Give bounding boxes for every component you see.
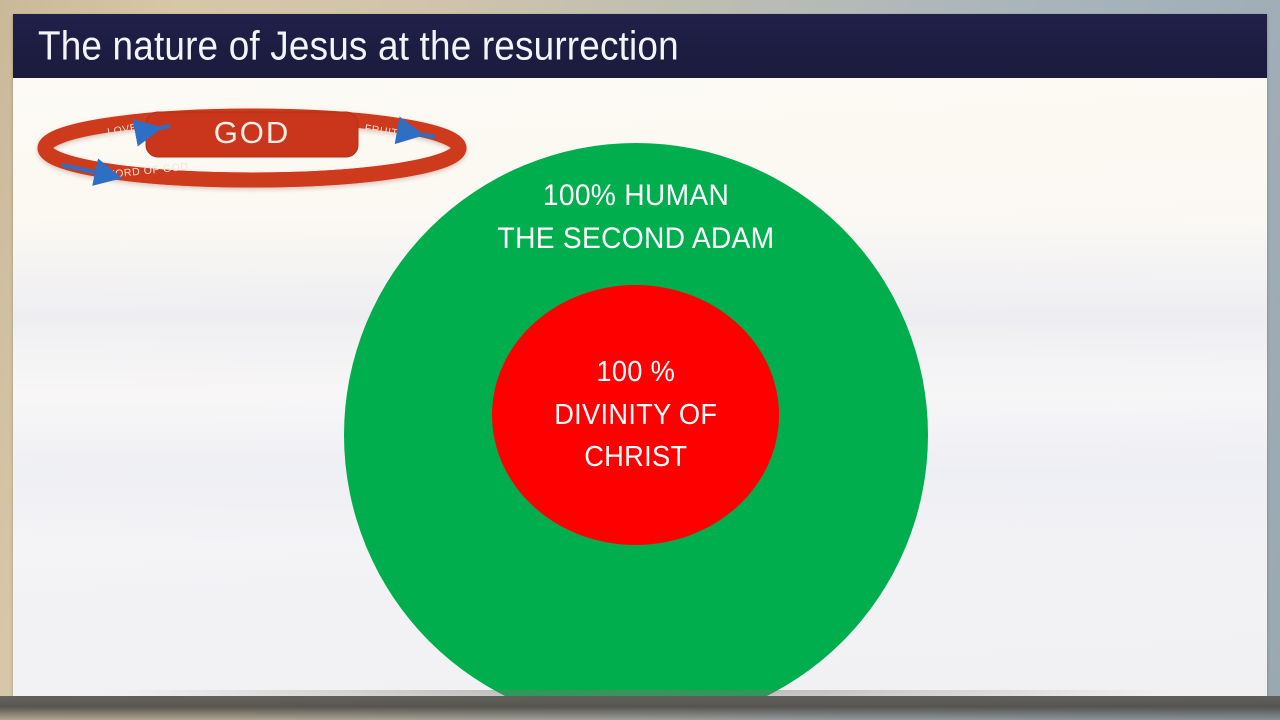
presentation-screen: The nature of Jesus at the resurrection [0,0,1280,720]
human-label-block: 100% HUMAN THE SECOND ADAM [362,175,911,260]
divinity-label-block: 100 % DIVINITY OF CHRIST [554,351,717,480]
circle-100-percent-divinity: 100 % DIVINITY OF CHRIST [492,285,779,545]
circle-100-percent-human: 100% HUMAN THE SECOND ADAM 100 % DIVINIT… [344,143,928,696]
divinity-label-line3: CHRIST [554,436,717,479]
divinity-label-line2: DIVINITY OF [554,394,717,437]
frame-bottom-bar [0,696,1280,720]
divinity-label-line1: 100 % [554,351,717,394]
slide-canvas: The nature of Jesus at the resurrection [13,14,1267,696]
god-label: GOD [214,115,291,150]
human-label-line1: 100% HUMAN [362,175,911,218]
slide-title: The nature of Jesus at the resurrection [38,23,679,70]
human-label-line2: THE SECOND ADAM [362,218,911,261]
slide-title-bar: The nature of Jesus at the resurrection [13,14,1267,78]
